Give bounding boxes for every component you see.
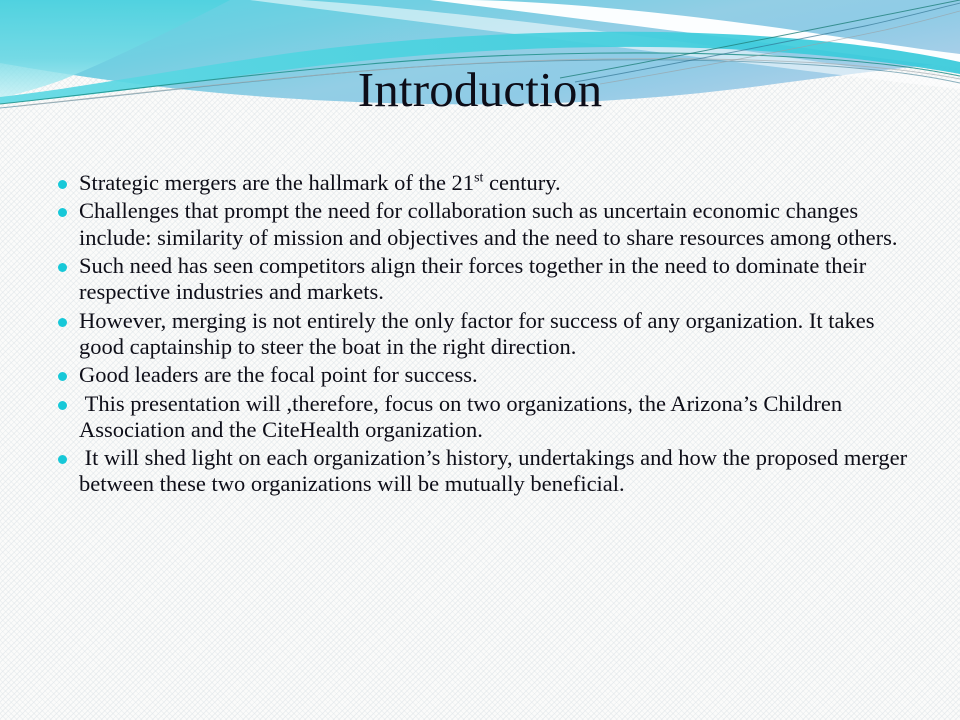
list-item: This presentation will ,therefore, focus… <box>58 391 916 444</box>
list-item: It will shed light on each organization’… <box>58 445 916 498</box>
bullet-text: Such need has seen competitors align the… <box>79 253 916 306</box>
list-item: However, merging is not entirely the onl… <box>58 308 916 361</box>
bullet-dot-icon <box>58 391 79 410</box>
bullet-text: This presentation will ,therefore, focus… <box>79 391 916 444</box>
list-item: Good leaders are the focal point for suc… <box>58 362 916 388</box>
bullet-text: Strategic mergers are the hallmark of th… <box>79 170 916 196</box>
page-title: Introduction <box>0 64 960 115</box>
bullet-dot-icon <box>58 253 79 272</box>
bullet-text-part: century. <box>483 170 560 195</box>
list-item: Strategic mergers are the hallmark of th… <box>58 170 916 196</box>
bullet-dot-icon <box>58 445 79 464</box>
bullet-text: However, merging is not entirely the onl… <box>79 308 916 361</box>
list-item: Challenges that prompt the need for coll… <box>58 198 916 251</box>
bullet-dot-icon <box>58 308 79 327</box>
slide: Introduction Strategic mergers are the h… <box>0 0 960 720</box>
bullet-text-part: Strategic mergers are the hallmark of th… <box>79 170 474 195</box>
bullet-dot-icon <box>58 198 79 217</box>
bullet-text: Good leaders are the focal point for suc… <box>79 362 916 388</box>
bullet-text: It will shed light on each organization’… <box>79 445 916 498</box>
bullet-superscript: st <box>474 171 483 186</box>
bullet-text: Challenges that prompt the need for coll… <box>79 198 916 251</box>
bullet-dot-icon <box>58 362 79 381</box>
bullet-dot-icon <box>58 170 79 189</box>
list-item: Such need has seen competitors align the… <box>58 253 916 306</box>
bullet-list: Strategic mergers are the hallmark of th… <box>58 170 916 500</box>
